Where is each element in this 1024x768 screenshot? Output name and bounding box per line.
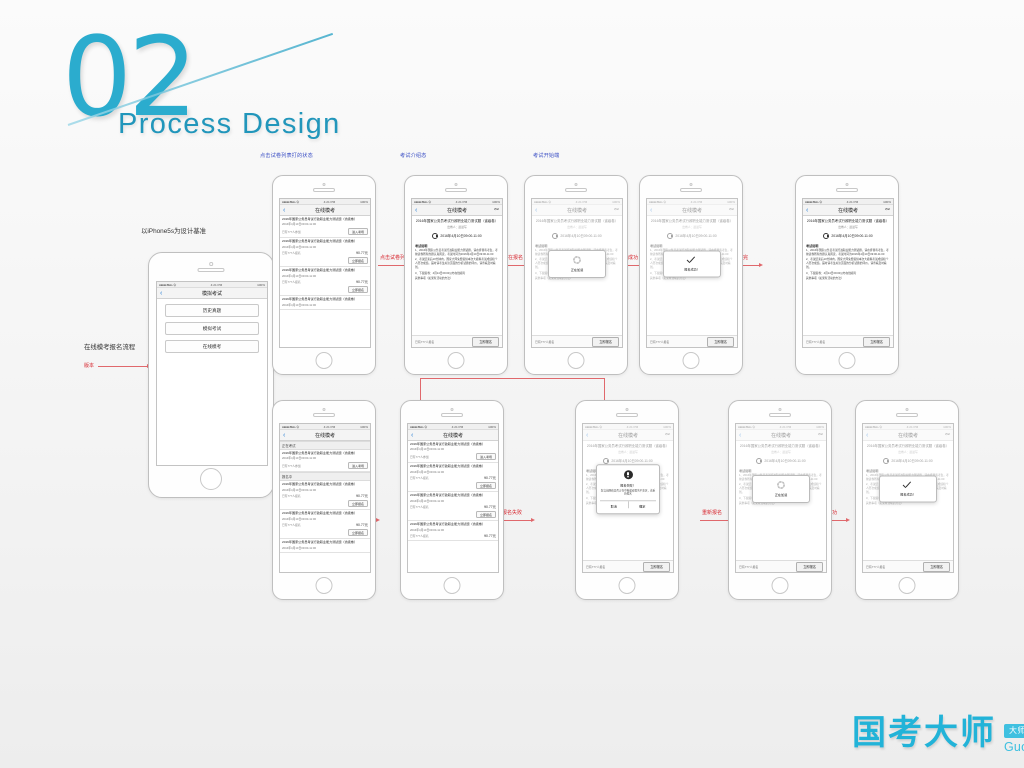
phone-frame-list-3: ●●●●● BELL 令 4:21 PM 100% ‹ 在线模考 2016年国家… [400, 400, 504, 600]
loading-text: 正在加载 [756, 492, 806, 497]
list-item-count: 已有777人参加 [410, 455, 429, 459]
list-item-count: 已有777人报名 [282, 280, 301, 284]
enter-exam-button[interactable]: 进入考场 [476, 453, 496, 461]
exam-time-row: 2016年4月10日09:00-11:00 [806, 233, 890, 239]
clock-icon [823, 233, 829, 239]
footer-count: 已有777人报名 [586, 565, 605, 569]
exam-title: 2016年国家公务员考试行政职业能力测试题（省级卷） [806, 219, 890, 224]
version-marker-label: 版本 [84, 362, 94, 369]
screen-exam-list-sections: ●●●●● BELL 令 4:21 PM 100% ‹ 在线模考 正在考试 20… [279, 423, 371, 573]
battery-label: 100% [488, 425, 496, 429]
list-item-price: ¥0.77元 [484, 504, 496, 509]
design-basis-note: 以iPhone5s为设计基准 [141, 226, 206, 235]
back-chevron-icon[interactable]: ‹ [283, 432, 285, 439]
phone-frame-success-1: ●●●●● BELL 令 4:21 PM 100% ‹ 在线模考 ∾ 2016年… [639, 175, 743, 375]
home-button[interactable] [200, 468, 222, 490]
back-chevron-icon[interactable]: ‹ [160, 290, 162, 297]
footer-count: 已有777人报名 [739, 565, 758, 569]
flow-process-title: 在线模考报名流程 [84, 342, 135, 351]
register-now-button[interactable]: 立即报名 [923, 562, 950, 572]
nav-title: 在线模考 [838, 207, 858, 214]
nav-title: 在线模考 [315, 432, 335, 439]
success-text: 报名成功！ [667, 267, 717, 272]
phone-frame-success-2: ●●●●● BELL 令 4:21 PM 100% ‹ 在线模考 ∾ 2016年… [855, 400, 959, 600]
nav-bar: ‹ 在线模考 ∾ [412, 205, 502, 216]
register-button[interactable]: 立即报名 [348, 286, 368, 294]
carrier-label: ●●●●● BELL 令 [414, 199, 431, 204]
detail-footer: 已有777人报名 立即报名 [583, 560, 673, 572]
nav-bar: ‹ 在线模考 [408, 430, 498, 441]
speaker-grille [836, 188, 858, 192]
detail-footer: 已有777人报名 立即报名 [412, 335, 502, 347]
spinner-icon [777, 481, 785, 489]
list-item-time: 2016年4月10日09:00-11:00 [282, 517, 368, 521]
clock-label: 4:21 PM [211, 283, 223, 287]
phone-frame-list-2: ●●●●● BELL 令 4:21 PM 100% ‹ 在线模考 正在考试 20… [272, 400, 376, 600]
screen-paid-detail: ●●●●● BELL 令 4:21 PM 100% ‹ 在线模考 ∾ 2016年… [802, 198, 894, 348]
list-item-time: 2016年4月10日09:00-11:00 [282, 488, 368, 492]
loading-dialog: 正在加载 [548, 250, 606, 278]
list-item[interactable]: 2016年国家公务员考试行政职业能力测试题（省级卷） 2016年4月10日09:… [280, 238, 370, 267]
back-chevron-icon[interactable]: ‹ [806, 207, 808, 214]
speaker-grille [680, 188, 702, 192]
list-item-time: 2016年4月10日09:00-11:00 [410, 470, 496, 474]
list-item[interactable]: 2016年国家公务员考试行政职业能力测试题（省级卷） 2016年4月10日09:… [280, 296, 370, 309]
alert-icon [624, 470, 633, 479]
carrier-label: ●●●●● BELL 令 [805, 199, 822, 204]
carrier-label: ●●●●● BELL 令 [282, 199, 299, 204]
camera-icon [575, 183, 578, 186]
menu-button-mock[interactable]: 模拟考试 [165, 322, 259, 335]
screen-register-fail: ●●●●● BELL 令 4:21 PM 100% ‹ 在线模考 ∾ 2016年… [582, 423, 674, 573]
nav-bar: ‹ 在线模考 ∾ [803, 205, 893, 216]
exam-note-paragraph: 1、2016年国家公务员考试行政职业能力测试题，请在折叠有考生，考前试卷所有的题… [806, 249, 890, 257]
exam-time-row: 2016年4月10日09:00-11:00 [415, 233, 499, 239]
exam-notes-heading: 考试说明 [806, 243, 890, 248]
screen-loading: ●●●●● BELL 令 4:21 PM 100% ‹ 在线模考 ∾ 2016年… [531, 198, 623, 348]
nav-bar: ‹ 模拟考试 [157, 288, 267, 299]
back-chevron-icon[interactable]: ‹ [415, 207, 417, 214]
list-item[interactable]: 2016年国家公务员考试行政职业能力测试题（省级卷） 2016年4月10日09:… [408, 492, 498, 521]
list-item-time: 2016年4月10日09:00-11:00 [410, 528, 496, 532]
nav-bar: ‹ 在线模考 [280, 430, 370, 441]
screen-success: ●●●●● BELL 令 4:21 PM 100% ‹ 在线模考 ∾ 2016年… [646, 198, 738, 348]
detail-footer: 已有777人报名 立即报名 [863, 560, 953, 572]
list-item-title: 2016年国家公务员考试行政职业能力测试题（省级卷） [282, 298, 368, 302]
section-header-registering: 报名中 [280, 472, 370, 481]
detail-footer: 已有777人报名 立即报名 [803, 335, 893, 347]
list-item[interactable]: 2016年国家公务员考试行政职业能力测试题（省级卷） 2016年4月10日09:… [280, 539, 370, 552]
register-now-button[interactable]: 立即报名 [472, 337, 499, 347]
exam-author: 出卷人：最最写 [806, 225, 890, 229]
exam-notes-heading: 考试说明 [415, 243, 499, 248]
home-button[interactable] [316, 352, 333, 369]
connector-arrow [759, 263, 763, 267]
fail-dialog-buttons: 取消 确定 [600, 500, 656, 508]
list-item-title: 2016年国家公务员考试行政职业能力测试题（省级卷） [282, 541, 368, 545]
register-button[interactable]: 立即报名 [348, 529, 368, 537]
speaker-grille [441, 413, 463, 417]
exam-time: 2016年4月10日09:00-11:00 [831, 233, 872, 238]
register-now-button[interactable]: 立即报名 [643, 562, 670, 572]
camera-icon [846, 183, 849, 186]
back-chevron-icon[interactable]: ‹ [283, 207, 285, 214]
nav-title: 在线模考 [447, 207, 467, 214]
screen-loading-2: ●●●●● BELL 令 4:21 PM 100% ‹ 在线模考 ∾ 2016年… [735, 423, 827, 573]
home-button[interactable] [316, 577, 333, 594]
list-item-title: 2016年国家公务员考试行政职业能力测试题（省级卷） [282, 512, 368, 516]
carrier-label: ●●●●● BELL 令 [159, 282, 176, 287]
screen-exam-detail: ●●●●● BELL 令 4:21 PM 100% ‹ 在线模考 ∾ 2016年… [411, 198, 503, 348]
phone-frame-loading: ●●●●● BELL 令 4:21 PM 100% ‹ 在线模考 ∾ 2016年… [524, 175, 628, 375]
phone-frame-paid: ●●●●● BELL 令 4:21 PM 100% ‹ 在线模考 ∾ 2016年… [795, 175, 899, 375]
clock-label: 4:21 PM [324, 425, 336, 429]
nav-title: 在线模考 [443, 432, 463, 439]
list-item-time: 2016年4月10日09:00-11:00 [410, 499, 496, 503]
exam-note-paragraph: 2、考试结束后10分钟内，国家大师免费提供本次大模拟考试成绩和个人历次成绩，届时… [415, 258, 499, 270]
list-item-count: 已有777人报名 [410, 534, 429, 538]
battery-label: 100% [257, 283, 265, 287]
checkmark-icon [687, 257, 697, 264]
list-item[interactable]: 2016年国家公务员考试行政职业能力测试题（省级卷） 2016年4月10日09:… [408, 463, 498, 492]
home-button[interactable] [899, 577, 916, 594]
list-item-title: 2016年国家公务员考试行政职业能力测试题（省级卷） [282, 269, 368, 273]
phone-frame-menu: ●●●●● BELL 令 4:21 PM 100% ‹ 模拟考试 历史真题 模拟… [148, 252, 274, 498]
process-diagram: 点击试卷列表打的状态 考试介绍态 考试开始端 以iPhone5s为设计基准 在线… [0, 0, 1024, 768]
list-item[interactable]: 2016年国家公务员考试行政职业能力测试题（省级卷） 2016年4月10日09:… [280, 510, 370, 539]
list-item-time: 2016年4月10日09:00-11:00 [282, 303, 368, 307]
brand-logo: 国考大师 大师在手，公考无忧 Guokaodashi.com [852, 716, 996, 750]
nav-bar: ‹ 在线模考 [280, 205, 370, 216]
connector-line [500, 520, 532, 521]
list-item[interactable]: 2016年国家公务员考试行政职业能力测试题（省级卷） 2016年4月10日09:… [280, 267, 370, 296]
checkmark-icon [903, 482, 913, 489]
brand-side: 大师在手，公考无忧 Guokaodashi.com [1004, 720, 1024, 754]
fail-body: 您当前网络是否正在中断或者服务不充足，请重新报名 [600, 489, 656, 496]
battery-label: 100% [360, 425, 368, 429]
list-item-time: 2016年4月10日09:00-11:00 [410, 447, 496, 451]
connector-arrow [376, 518, 380, 522]
list-item-title: 2016年国家公务员考试行政职业能力测试题（省级卷） [410, 465, 496, 469]
exam-note-paragraph: 1、2016年国家公务员考试行政职业能力测试题，请在折叠有考生，考前试卷所有的题… [415, 249, 499, 257]
list-item-time: 2016年4月10日09:00-11:00 [282, 245, 368, 249]
flow-label-list-state: 点击试卷列表打的状态 [260, 152, 313, 159]
list-item-time: 2016年4月10日09:00-11:00 [282, 222, 368, 226]
list-item-title: 2016年国家公务员考试行政职业能力测试题（省级卷） [282, 218, 368, 222]
list-item-title: 2016年国家公务员考试行政职业能力测试题（省级卷） [410, 443, 496, 447]
screen-menu: ●●●●● BELL 令 4:21 PM 100% ‹ 模拟考试 历史真题 模拟… [156, 281, 268, 466]
list-item-title: 2016年国家公务员考试行政职业能力测试题（省级卷） [410, 494, 496, 498]
exam-note-paragraph: 3、下载提卷：4月14日09:00公布在线模考 [806, 272, 890, 276]
list-item[interactable]: 2016年国家公务员考试行政职业能力测试题（省级卷） 2016年4月10日09:… [280, 481, 370, 510]
clock-label: 4:21 PM [847, 200, 859, 204]
camera-icon [690, 183, 693, 186]
camera-icon [626, 408, 629, 411]
flow-label-exam-start: 考试开始端 [533, 152, 559, 159]
arrow-label-retry-register: 重新报名 [702, 509, 722, 516]
flow-label-exam-intro: 考试介绍态 [400, 152, 426, 159]
cancel-button[interactable]: 取消 [600, 501, 629, 508]
home-button[interactable] [772, 577, 789, 594]
clock-label: 4:21 PM [456, 200, 468, 204]
detail-footer: 已有777人报名 立即报名 [532, 335, 622, 347]
list-item-count: 已有777人参加 [282, 230, 301, 234]
detail-body: 2016年国家公务员考试行政职业能力测试题（省级卷） 出卷人：最最写 2016年… [803, 216, 893, 285]
speaker-grille [198, 268, 225, 272]
list-item-count: 已有777人报名 [410, 505, 429, 509]
detail-body: 2016年国家公务员考试行政职业能力测试题（省级卷） 出卷人：最最写 2016年… [412, 216, 502, 285]
success-dialog-2: 报名成功！ [879, 476, 937, 503]
home-button[interactable] [448, 352, 465, 369]
enter-exam-button[interactable]: 进入考场 [348, 228, 368, 236]
arrow-label-register-fail: 报名失败 [502, 509, 522, 516]
list-item[interactable]: 2016年国家公务员考试行政职业能力测试题（省级卷） 2016年4月10日09:… [408, 521, 498, 541]
phone-frame-fail: ●●●●● BELL 令 4:21 PM 100% ‹ 在线模考 ∾ 2016年… [575, 400, 679, 600]
detail-footer: 已有777人报名 立即报名 [736, 560, 826, 572]
speaker-grille [445, 188, 467, 192]
carrier-label: ●●●●● BELL 令 [282, 424, 299, 429]
success-text: 报名成功！ [883, 492, 933, 497]
nav-title: 在线模考 [315, 207, 335, 214]
brand-name: 国考大师 [852, 713, 996, 753]
footer-count: 已有777人报名 [866, 565, 885, 569]
battery-label: 100% [360, 200, 368, 204]
exam-time: 2016年4月10日09:00-11:00 [440, 233, 481, 238]
exam-note-extra: 其他事项（如果有活动的方法） [415, 277, 499, 281]
exam-note-extra: 其他事项（如果有活动的方法） [806, 277, 890, 281]
list-item-price: ¥0.77元 [356, 279, 368, 284]
fail-title: 报名失败！ [600, 482, 656, 487]
list-item-time: 2016年4月10日09:00-11:00 [282, 274, 368, 278]
list-item-count: 已有777人报名 [282, 494, 301, 498]
home-button[interactable] [619, 577, 636, 594]
spinner-icon [573, 256, 581, 264]
list-item-time: 2016年4月10日09:00-11:00 [282, 546, 368, 550]
list-item-price: ¥0.77元 [356, 522, 368, 527]
phone-frame-list-1: ●●●●● BELL 令 4:21 PM 100% ‹ 在线模考 2016年国家… [272, 175, 376, 375]
loading-dialog-2: 正在加载 [752, 475, 810, 503]
section-header-in-exam: 正在考试 [280, 441, 370, 450]
register-now-button[interactable]: 立即报名 [863, 337, 890, 347]
fail-dialog: 报名失败！ 您当前网络是否正在中断或者服务不充足，请重新报名 取消 确定 [596, 464, 660, 514]
screen-exam-list-scrolled: ●●●●● BELL 令 4:21 PM 100% ‹ 在线模考 2016年国家… [407, 423, 499, 573]
register-button[interactable]: 立即报名 [476, 511, 496, 519]
footer-count: 已有777人报名 [535, 340, 554, 344]
register-now-button[interactable]: 立即报名 [592, 337, 619, 347]
detail-footer: 已有777人报名 立即报名 [647, 335, 737, 347]
success-dialog: 报名成功！ [663, 251, 721, 278]
clock-label: 4:21 PM [452, 425, 464, 429]
list-item-price: ¥0.77元 [356, 250, 368, 255]
nav-title: 模拟考试 [202, 290, 222, 297]
camera-icon [779, 408, 782, 411]
home-button[interactable] [568, 352, 585, 369]
menu-body: 历史真题 模拟考试 在线模考 [157, 304, 267, 353]
footer-count: 已有777人报名 [650, 340, 669, 344]
menu-button-history[interactable]: 历史真题 [165, 304, 259, 317]
clock-label: 4:21 PM [324, 200, 336, 204]
phone-frame-detail-1: ●●●●● BELL 令 4:21 PM 100% ‹ 在线模考 ∾ 2016年… [404, 175, 508, 375]
list-item[interactable]: 2016年国家公务员考试行政职业能力测试题（省级卷） 2016年4月10日09:… [280, 216, 370, 238]
list-item-time: 2016年4月10日09:00-11:00 [282, 456, 368, 460]
speaker-grille [313, 413, 335, 417]
brand-url: Guokaodashi.com [1004, 740, 1024, 754]
camera-icon [451, 408, 454, 411]
list-item-price: ¥0.77元 [484, 475, 496, 480]
exam-title: 2016年国家公务员考试行政职业能力测试题（省级卷） [415, 219, 499, 224]
list-item-count: 已有777人报名 [282, 251, 301, 255]
carrier-label: ●●●●● BELL 令 [410, 424, 427, 429]
exam-note-paragraph: 2、考试结束后10分钟内，国家大师免费提供本次大模拟考试成绩和个人历次成绩，届时… [806, 258, 890, 270]
list-item-title: 2016年国家公务员考试行政职业能力测试题（省级卷） [282, 452, 368, 456]
camera-icon [323, 408, 326, 411]
home-button[interactable] [683, 352, 700, 369]
speaker-grille [769, 413, 791, 417]
footer-count: 已有777人报名 [415, 340, 434, 344]
confirm-button[interactable]: 确定 [629, 501, 657, 508]
menu-button-online[interactable]: 在线模考 [165, 340, 259, 353]
camera-icon [455, 183, 458, 186]
list-item-count: 已有777人报名 [282, 523, 301, 527]
list-item-price: ¥0.77元 [356, 493, 368, 498]
register-button[interactable]: 立即报名 [476, 482, 496, 490]
home-button[interactable] [444, 577, 461, 594]
share-icon[interactable]: ∾ [885, 207, 890, 213]
list-item-count: 已有777人报名 [410, 476, 429, 480]
list-item-price: ¥0.77元 [484, 533, 496, 538]
exam-note-paragraph: 3、下载提卷：4月14日09:00公布在线模考 [415, 272, 499, 276]
footer-count: 已有777人报名 [806, 340, 825, 344]
enter-exam-button[interactable]: 进入考场 [348, 462, 368, 470]
brand-tagline: 大师在手，公考无忧 [1004, 724, 1024, 738]
speaker-grille [616, 413, 638, 417]
list-item-count: 已有777人参加 [282, 464, 301, 468]
home-button[interactable] [839, 352, 856, 369]
clock-icon [432, 233, 438, 239]
list-item[interactable]: 2016年国家公务员考试行政职业能力测试题（省级卷） 2016年4月10日09:… [280, 450, 370, 472]
register-button[interactable]: 立即报名 [348, 500, 368, 508]
connector-line [420, 378, 605, 379]
camera-icon [906, 408, 909, 411]
connector-arrow [846, 518, 850, 522]
exam-author: 出卷人：最最写 [415, 225, 499, 229]
loading-text: 正在加载 [552, 267, 602, 272]
back-chevron-icon[interactable]: ‹ [411, 432, 413, 439]
camera-icon [323, 183, 326, 186]
camera-icon [209, 262, 213, 266]
share-icon[interactable]: ∾ [494, 207, 499, 213]
connector-line [98, 366, 148, 367]
list-item-title: 2016年国家公务员考试行政职业能力测试题（省级卷） [410, 523, 496, 527]
list-item-title: 2016年国家公务员考试行政职业能力测试题（省级卷） [282, 483, 368, 487]
battery-label: 100% [492, 200, 500, 204]
register-button[interactable]: 立即报名 [348, 257, 368, 265]
speaker-grille [896, 413, 918, 417]
phone-frame-loading-2: ●●●●● BELL 令 4:21 PM 100% ‹ 在线模考 ∾ 2016年… [728, 400, 832, 600]
connector-arrow [531, 518, 535, 522]
speaker-grille [565, 188, 587, 192]
battery-label: 100% [883, 200, 891, 204]
screen-success-2: ●●●●● BELL 令 4:21 PM 100% ‹ 在线模考 ∾ 2016年… [862, 423, 954, 573]
register-now-button[interactable]: 立即报名 [707, 337, 734, 347]
register-now-button[interactable]: 立即报名 [796, 562, 823, 572]
screen-exam-list: ●●●●● BELL 令 4:21 PM 100% ‹ 在线模考 2016年国家… [279, 198, 371, 348]
list-item-title: 2016年国家公务员考试行政职业能力测试题（省级卷） [282, 240, 368, 244]
speaker-grille [313, 188, 335, 192]
list-item[interactable]: 2016年国家公务员考试行政职业能力测试题（省级卷） 2016年4月10日09:… [408, 441, 498, 463]
